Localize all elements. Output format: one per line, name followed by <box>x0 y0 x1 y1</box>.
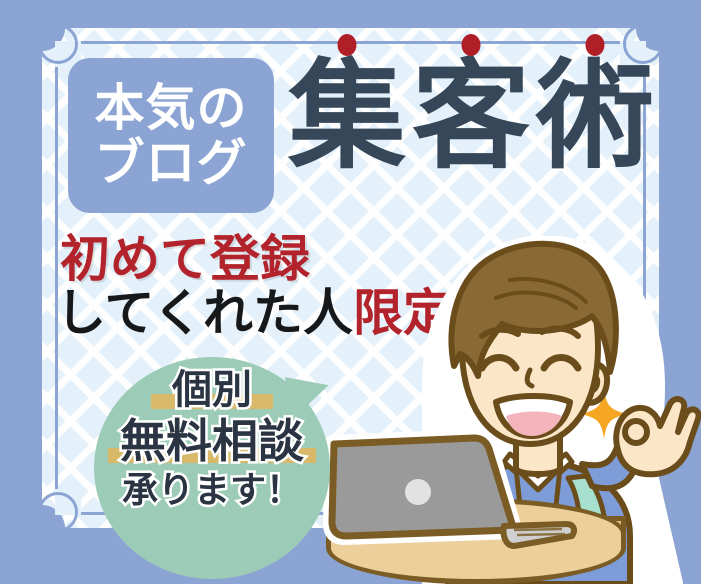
bubble-row-2: 無料相談 <box>94 416 330 468</box>
bubble-line-1: 個別 <box>172 368 252 413</box>
headline-char-1: 集 <box>288 58 406 176</box>
headline-char-3: 術 <box>536 58 654 176</box>
headline-char-2: 客 <box>412 58 530 176</box>
headline-char-3-text: 術 <box>536 51 654 183</box>
emphasis-dot-icon <box>462 34 481 56</box>
bubble-line-3: 承ります！ <box>122 470 302 510</box>
promo-banner: 本気の ブログ 集 客 術 初めて登録 してくれた人限定！ <box>0 0 701 584</box>
bubble-row-3: 承ります！ <box>94 470 330 510</box>
emphasis-dot-icon <box>338 34 357 56</box>
badge-line-1: 本気の <box>95 82 248 135</box>
category-badge: 本気の ブログ <box>68 58 274 213</box>
subtitle-line-2-dark: してくれた人 <box>56 285 353 341</box>
page-title: 集 客 術 <box>288 58 654 176</box>
laptop-icon <box>318 430 578 560</box>
badge-line-2: ブログ <box>95 137 248 190</box>
bubble-line-2: 無料相談 <box>120 416 304 468</box>
headline-char-2-text: 客 <box>412 51 530 183</box>
speech-bubble-text: 個別 無料相談 承ります！ <box>94 368 330 514</box>
emphasis-dot-icon <box>586 34 605 56</box>
headline-char-1-text: 集 <box>288 51 406 183</box>
subtitle-line-1: 初めて登録 <box>60 234 310 284</box>
bubble-row-1: 個別 <box>94 368 330 413</box>
